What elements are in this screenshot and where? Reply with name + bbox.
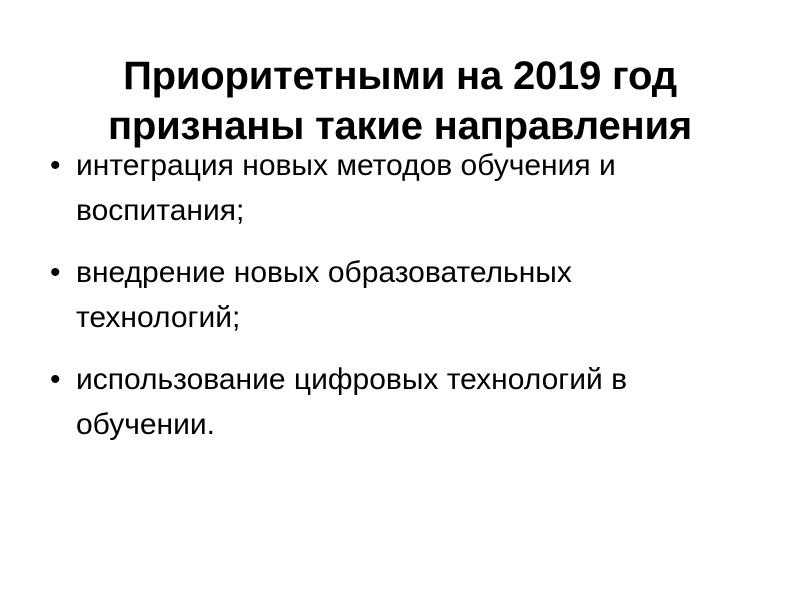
list-item-label: использование цифровых технологий в обуч… bbox=[76, 357, 696, 447]
list-item-label: внедрение новых образовательных технолог… bbox=[76, 250, 696, 340]
bullet-icon: • bbox=[50, 250, 64, 295]
bullet-list: • интеграция новых методов обучения и во… bbox=[36, 143, 696, 447]
list-item-label: интеграция новых методов обучения и восп… bbox=[76, 143, 696, 233]
bullet-icon: • bbox=[50, 357, 64, 402]
page-title: Приоритетными на 2019 год признаны такие… bbox=[40, 51, 760, 151]
bullet-icon: • bbox=[50, 143, 64, 188]
slide-canvas: Приоритетными на 2019 год признаны такие… bbox=[0, 0, 800, 600]
list-item: • внедрение новых образовательных технол… bbox=[36, 250, 696, 340]
list-item: • интеграция новых методов обучения и во… bbox=[36, 143, 696, 233]
list-item: • использование цифровых технологий в об… bbox=[36, 357, 696, 447]
